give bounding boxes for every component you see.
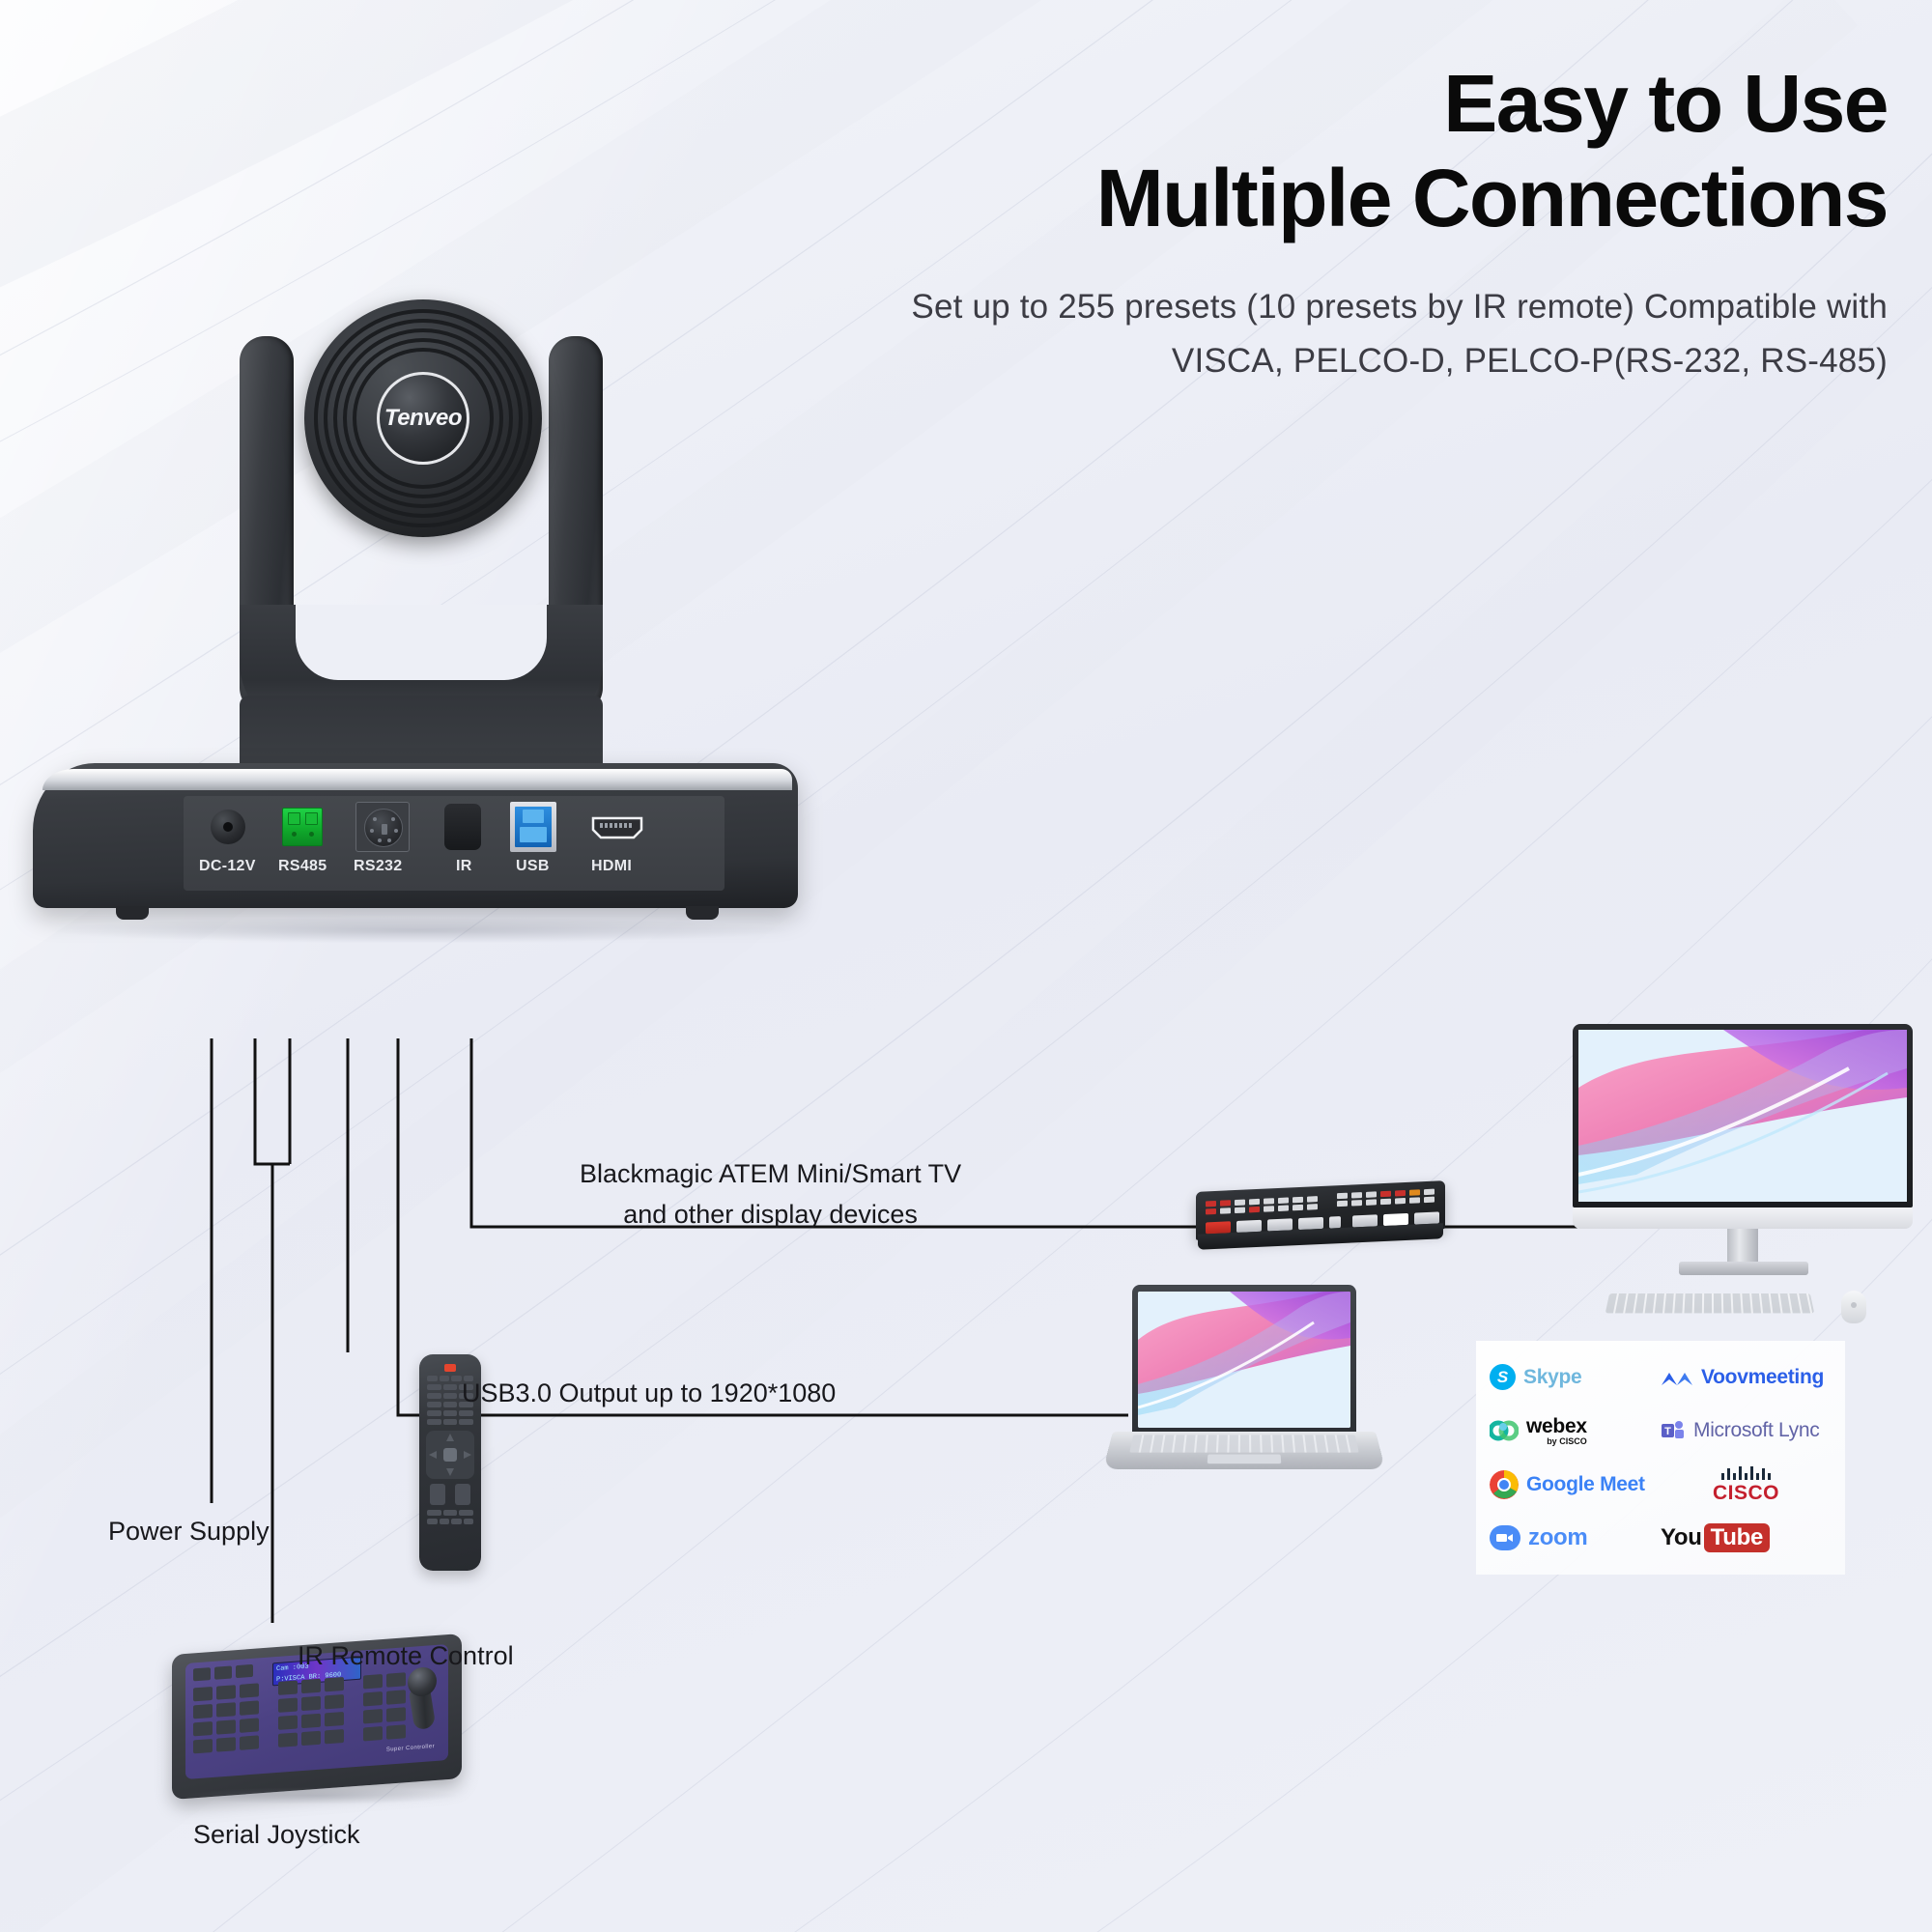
laptop-screen [1138,1292,1350,1428]
joystick-brand-label: Super Controller [386,1744,435,1753]
skype-label: Skype [1523,1366,1581,1389]
port-label-ir: IR [456,858,472,875]
ptz-camera: Tenveo DC-12V RS485 [19,377,831,1111]
laptop-base [1103,1432,1385,1469]
camera-yoke-cutout [296,605,547,680]
webex-sublabel: by CISCO [1526,1437,1587,1446]
joystick-keypad-left[interactable] [193,1683,259,1753]
voovmeeting-icon [1661,1368,1693,1387]
monitor-chin [1573,1207,1913,1229]
keyboard[interactable] [1605,1293,1814,1313]
camera-lens-housing: Tenveo [304,299,542,537]
callout-serial-joystick: Serial Joystick [193,1816,360,1854]
dpad-home-icon [443,1448,457,1462]
joystick-softkey[interactable] [193,1667,211,1681]
mouse[interactable] [1841,1291,1866,1323]
joystick-softkey[interactable] [236,1664,253,1678]
remote-function-row[interactable] [426,1419,474,1425]
page-subtitle: Set up to 255 presets (10 presets by IR … [670,280,1888,388]
monitor-stand-base [1679,1262,1808,1275]
logo-youtube: You Tube [1661,1523,1832,1552]
callout-hdmi-devices: Blackmagic ATEM Mini/Smart TV and other … [580,1153,961,1235]
compatible-software-panel: S Skype Voovmeeting webex by CISCO [1476,1341,1845,1575]
subtitle-line2: VISCA, PELCO-D, PELCO-P(RS-232, RS-485) [670,334,1888,388]
port-label-dc: DC-12V [199,858,256,875]
brand-logo: Tenveo [384,405,462,432]
cisco-label: CISCO [1713,1482,1779,1505]
dpad-right-icon [464,1451,471,1459]
dpad-left-icon [429,1451,437,1459]
port-dc-12v[interactable] [211,810,245,844]
joystick-drop-shadow [180,1787,460,1804]
logo-skype: S Skype [1490,1364,1661,1390]
logo-webex: webex by CISCO [1490,1416,1661,1446]
camera-lens-glass: Tenveo [377,372,469,465]
cisco-bars-icon [1721,1464,1771,1480]
joystick-softkey[interactable] [214,1665,232,1679]
callout-power-supply: Power Supply [108,1513,270,1550]
laptop-keyboard[interactable] [1129,1435,1359,1452]
zoom-label: zoom [1528,1524,1587,1551]
zoom-icon [1490,1525,1520,1550]
logo-zoom: zoom [1490,1524,1661,1551]
remote-zoom-out-rocker[interactable] [455,1484,470,1505]
callout-hdmi-line1: Blackmagic ATEM Mini/Smart TV [580,1153,961,1194]
google-meet-icon [1490,1470,1519,1499]
webex-icon [1490,1419,1519,1442]
camera-base: DC-12V RS485 [19,763,811,927]
header-block: Easy to Use Multiple Connections Set up … [670,56,1888,388]
blackmagic-atem-mini-switcher[interactable] [1196,1186,1449,1258]
subtitle-line1: Set up to 255 presets (10 presets by IR … [670,280,1888,334]
logo-cisco: CISCO [1661,1464,1832,1505]
svg-text:T: T [1664,1426,1671,1437]
webex-text-group: webex by CISCO [1526,1416,1587,1446]
camera-base-chrome-trim [43,769,792,790]
joystick-keypad-right[interactable] [363,1672,406,1741]
laptop-trackpad[interactable] [1207,1455,1282,1464]
dpad-down-icon [446,1468,454,1476]
remote-bottom-row-2[interactable] [426,1519,474,1524]
voovmeeting-label: Voovmeeting [1701,1366,1824,1389]
lync-icon: T [1661,1419,1686,1442]
camera-port-panel: DC-12V RS485 [184,796,724,891]
remote-bottom-row-1[interactable] [426,1510,474,1516]
webex-label: webex [1526,1416,1587,1436]
callout-hdmi-line2: and other display devices [580,1194,961,1235]
page-title-line2: Multiple Connections [670,151,1888,245]
remote-dpad[interactable] [426,1431,474,1479]
port-hdmi[interactable] [589,815,645,840]
logo-voovmeeting: Voovmeeting [1661,1366,1832,1389]
logo-google-meet: Google Meet [1490,1470,1661,1499]
port-label-rs485: RS485 [278,858,327,875]
joystick-keypad-numeric[interactable] [278,1677,344,1747]
youtube-label-you: You [1661,1524,1702,1551]
port-rs485[interactable] [282,808,323,846]
logo-microsoft-lync: T Microsoft Lync [1661,1419,1832,1442]
page-title-line1: Easy to Use [670,56,1888,151]
port-ir-receiver [444,804,481,850]
skype-icon: S [1490,1364,1516,1390]
joystick-stick[interactable] [404,1665,442,1732]
port-label-hdmi: HDMI [591,858,632,875]
dpad-up-icon [446,1434,454,1441]
laptop-lid [1132,1285,1356,1432]
remote-power-button[interactable] [444,1364,456,1372]
desktop-monitor [1565,1024,1922,1314]
port-rs232[interactable] [355,802,410,852]
youtube-label-tube: Tube [1704,1523,1770,1552]
monitor-screen [1578,1030,1907,1202]
laptop [1113,1285,1383,1497]
remote-zoom-in-rocker[interactable] [430,1484,445,1505]
lync-label: Microsoft Lync [1693,1419,1819,1442]
google-meet-label: Google Meet [1526,1473,1645,1496]
port-usb[interactable] [510,802,556,852]
monitor-bezel [1573,1024,1913,1207]
callout-usb-output: USB3.0 Output up to 1920*1080 [462,1375,836,1412]
callout-ir-remote: IR Remote Control [298,1637,514,1675]
monitor-stand-neck [1727,1229,1758,1264]
camera-drop-shadow [52,918,786,943]
port-label-rs232: RS232 [354,858,402,875]
port-label-usb: USB [516,858,550,875]
